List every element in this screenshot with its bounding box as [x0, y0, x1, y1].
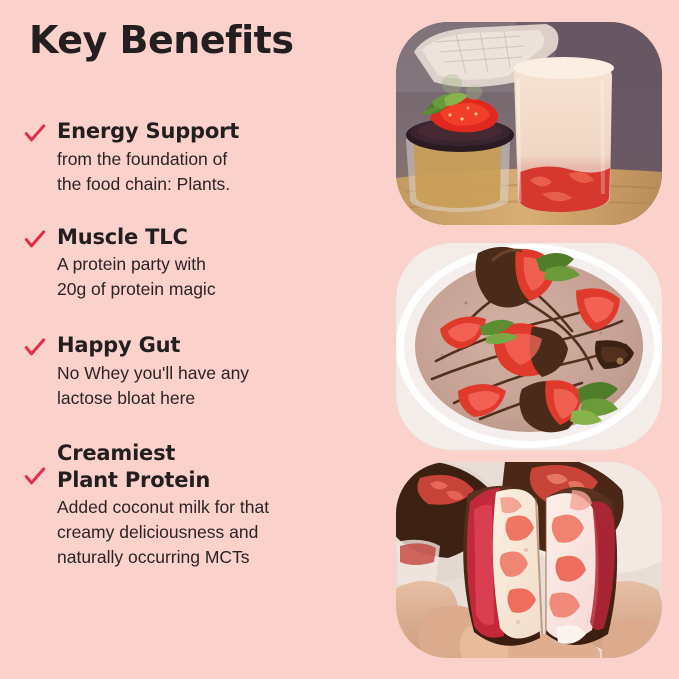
benefit-body: from the foundation of the food chain: P…	[57, 147, 390, 197]
benefits-list: Energy Support from the foundation of th…	[0, 118, 390, 592]
photo-chocolate-covered-strawberry-halves	[396, 462, 662, 658]
benefit-body: A protein party with 20g of protein magi…	[57, 252, 390, 302]
list-item: Muscle TLC A protein party with 20g of p…	[0, 224, 390, 303]
benefit-heading: Happy Gut	[57, 332, 390, 359]
page-title: Key Benefits	[29, 20, 293, 62]
photo-pouring-strawberry-shake	[396, 22, 662, 225]
check-icon	[24, 337, 46, 359]
check-icon	[24, 229, 46, 251]
check-icon	[24, 123, 46, 145]
photo-chocolate-covered-strawberry-halves-art	[396, 462, 662, 658]
benefit-body: No Whey you'll have any lactose bloat he…	[57, 361, 390, 411]
benefit-heading: Energy Support	[57, 118, 390, 145]
key-benefits-infographic: Key Benefits Energy Support from the fou…	[0, 0, 679, 679]
photo-chocolate-strawberry-smoothie-bowl	[396, 243, 662, 450]
list-item: Creamiest Plant Protein Added coconut mi…	[0, 440, 390, 570]
photo-pouring-strawberry-shake-art	[396, 22, 662, 225]
product-photo-column	[396, 0, 668, 679]
photo-chocolate-strawberry-smoothie-bowl-art	[396, 243, 662, 450]
list-item: Energy Support from the foundation of th…	[0, 118, 390, 197]
benefit-heading: Creamiest Plant Protein	[57, 440, 390, 494]
list-item: Happy Gut No Whey you'll have any lactos…	[0, 332, 390, 411]
benefit-heading: Muscle TLC	[57, 224, 390, 251]
benefits-column: Key Benefits Energy Support from the fou…	[0, 0, 390, 679]
benefit-body: Added coconut milk for that creamy delic…	[57, 495, 390, 570]
check-icon	[24, 466, 46, 488]
